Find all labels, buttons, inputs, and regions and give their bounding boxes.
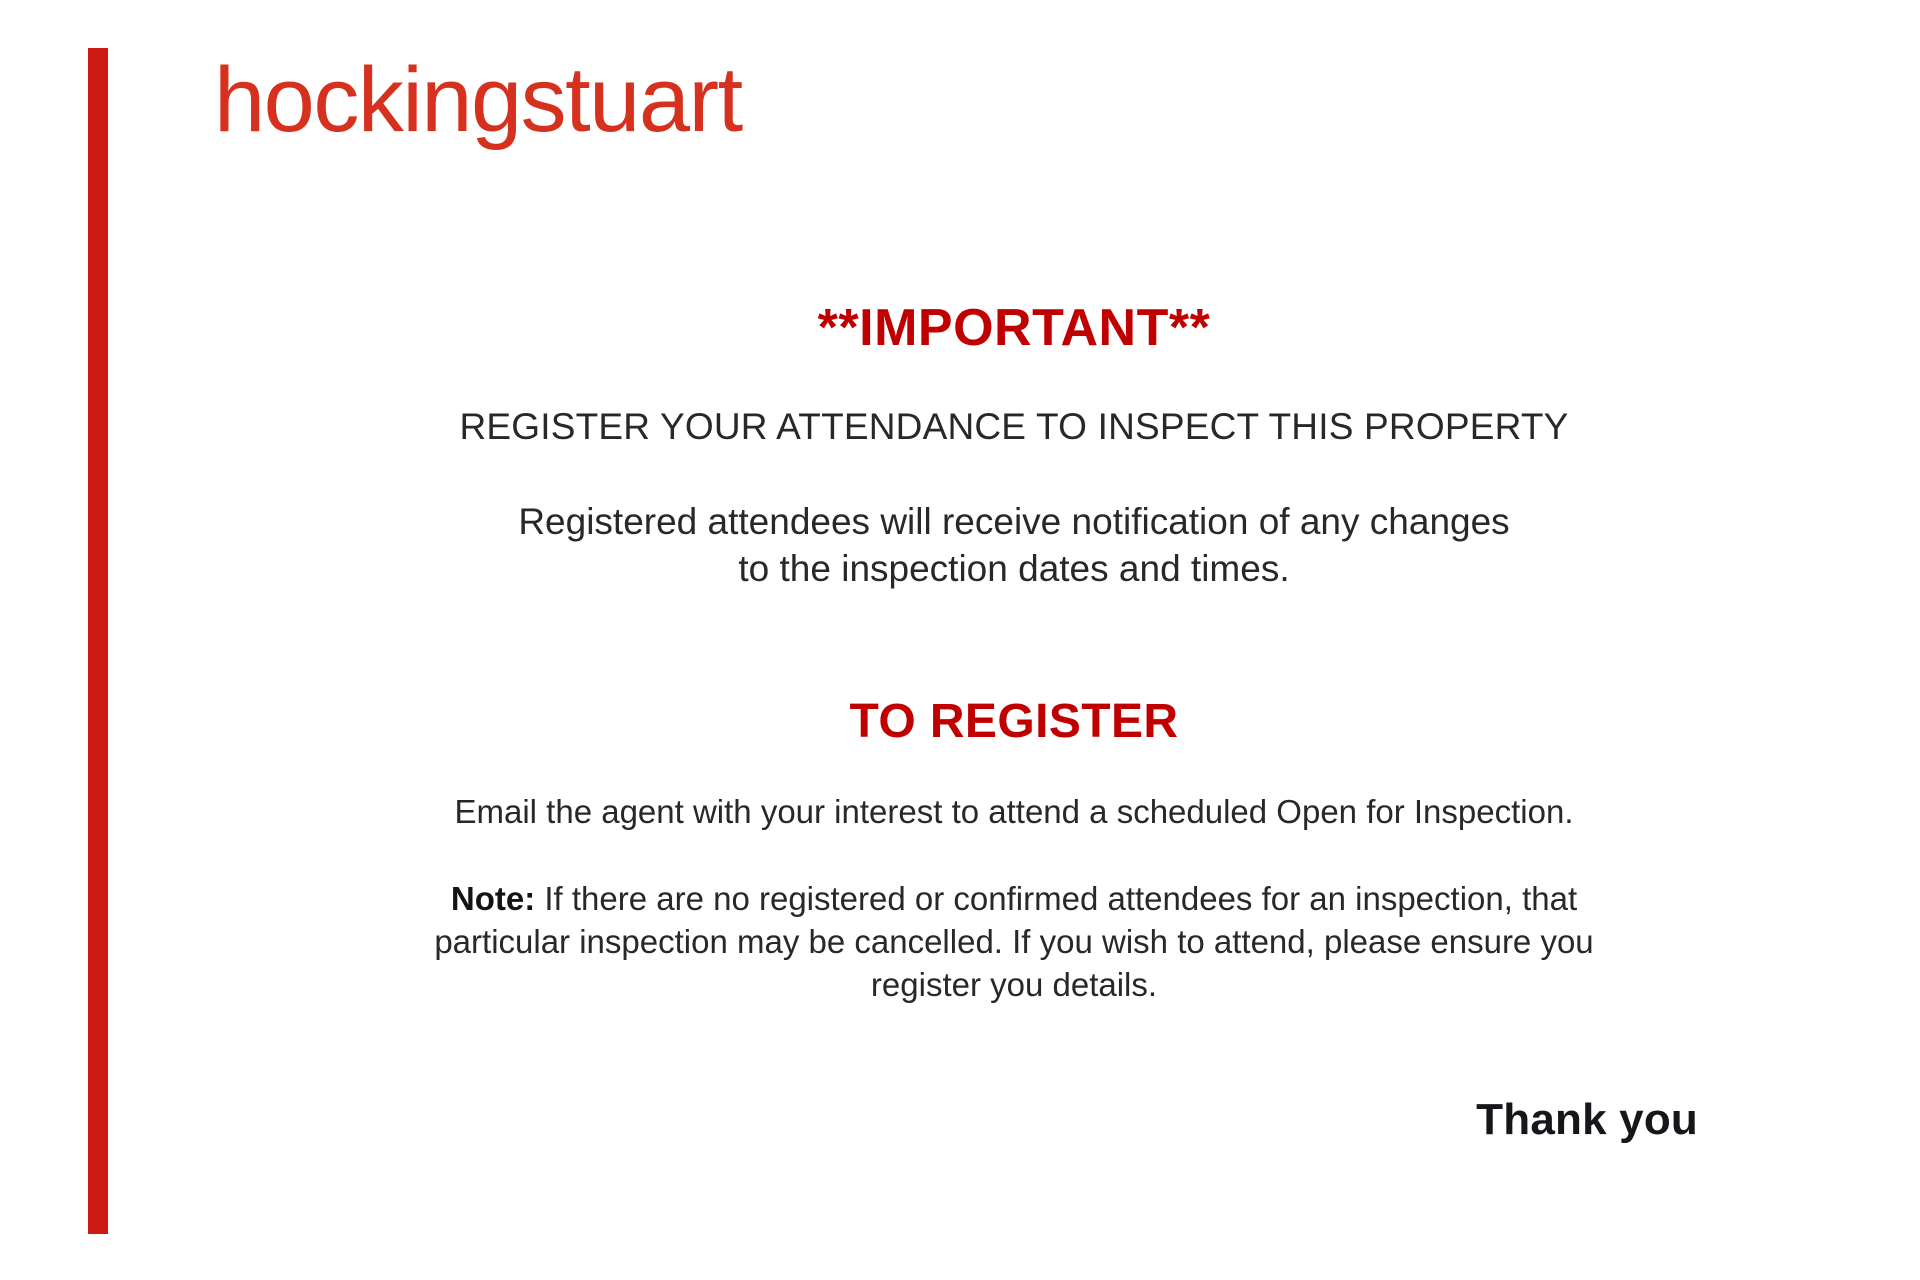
hockingstuart-logo: hockingstuart — [214, 54, 742, 146]
register-attendance-subheading: REGISTER YOUR ATTENDANCE TO INSPECT THIS… — [108, 405, 1920, 449]
note-body: If there are no registered or confirmed … — [434, 880, 1593, 1003]
note-paragraph: Note: If there are no registered or conf… — [389, 878, 1639, 1007]
thank-you-signoff: Thank you — [1476, 1095, 1698, 1145]
notification-paragraph: Registered attendees will receive notifi… — [514, 498, 1514, 593]
notice-content: **IMPORTANT** REGISTER YOUR ATTENDANCE T… — [108, 300, 1920, 1007]
left-red-rule — [88, 48, 108, 1234]
to-register-heading: TO REGISTER — [108, 696, 1920, 749]
note-label: Note: — [451, 880, 535, 917]
important-heading: **IMPORTANT** — [108, 300, 1920, 357]
slide-canvas: hockingstuart **IMPORTANT** REGISTER YOU… — [0, 0, 1920, 1280]
email-instruction-paragraph: Email the agent with your interest to at… — [354, 791, 1674, 834]
